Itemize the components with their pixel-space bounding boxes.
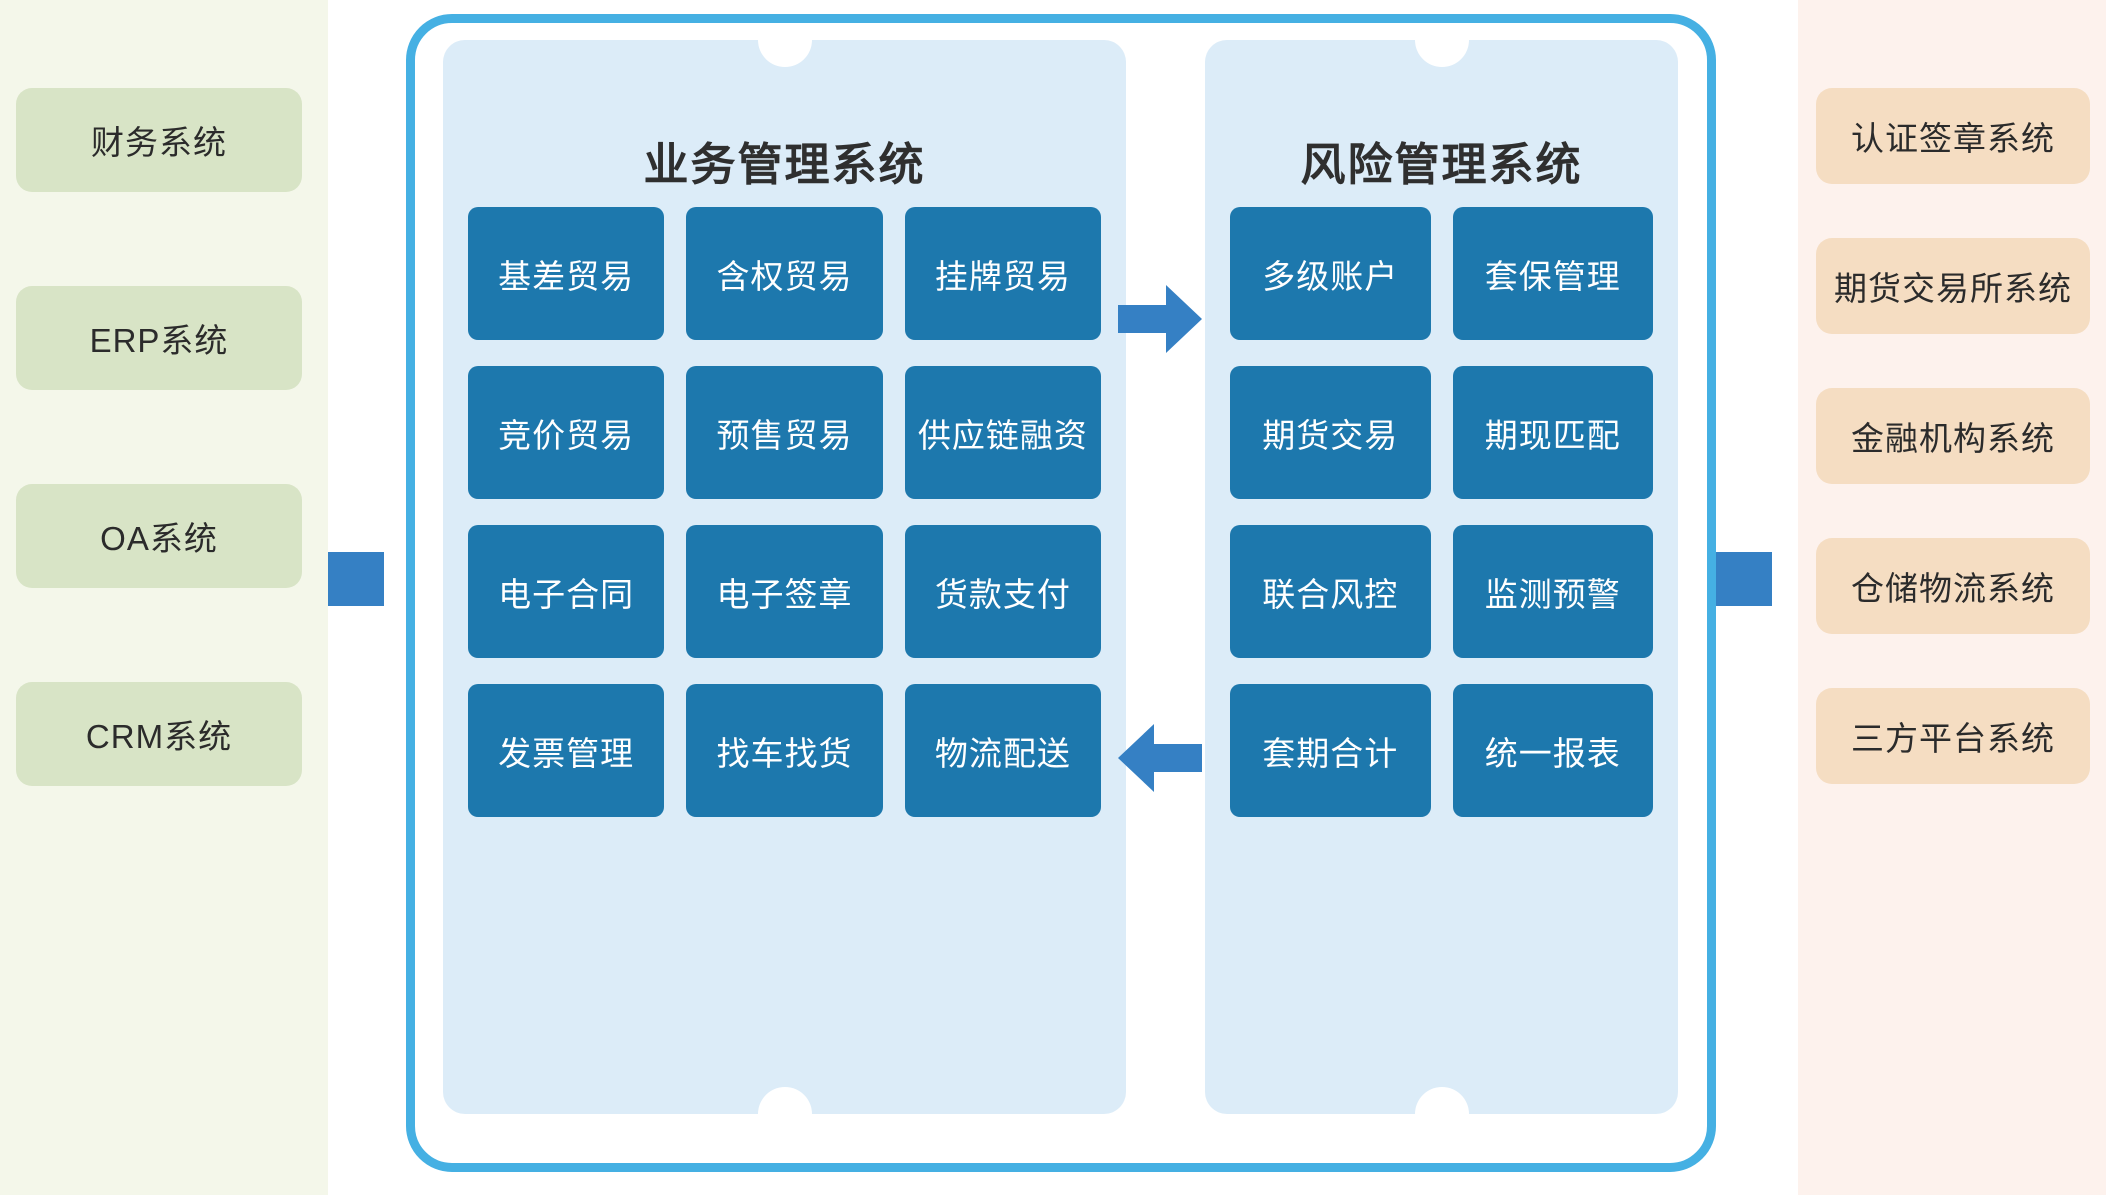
business-tile[interactable]: 电子签章	[686, 525, 882, 658]
right-system-label: 仓储物流系统	[1851, 562, 2055, 610]
risk-tile-grid: 多级账户 套保管理 期货交易 期现匹配 联合风控 监测预警 套期合计 统一报表	[1230, 207, 1653, 817]
risk-management-panel: 风险管理系统 多级账户 套保管理 期货交易 期现匹配 联合风控 监测预警 套期合…	[1205, 40, 1678, 1114]
risk-tile[interactable]: 期现匹配	[1453, 366, 1654, 499]
right-system-box-5[interactable]: 三方平台系统	[1816, 688, 2090, 784]
tile-label: 套保管理	[1485, 250, 1621, 298]
right-system-label: 期货交易所系统	[1834, 262, 2072, 310]
risk-tile[interactable]: 期货交易	[1230, 366, 1431, 499]
tile-label: 找车找货	[716, 727, 852, 775]
tile-label: 供应链融资	[918, 409, 1088, 457]
left-system-label: 财务系统	[91, 116, 227, 164]
tile-label: 含权贸易	[716, 250, 852, 298]
left-connector-block	[328, 552, 384, 606]
business-tile[interactable]: 预售贸易	[686, 366, 882, 499]
business-tile[interactable]: 发票管理	[468, 684, 664, 817]
right-connector-block	[1716, 552, 1772, 606]
panel-notch-top-icon	[758, 40, 812, 67]
tile-label: 套期合计	[1262, 727, 1398, 775]
risk-tile[interactable]: 联合风控	[1230, 525, 1431, 658]
tile-label: 监测预警	[1485, 568, 1621, 616]
tile-label: 挂牌贸易	[935, 250, 1071, 298]
risk-tile[interactable]: 统一报表	[1453, 684, 1654, 817]
left-system-box-3[interactable]: OA系统	[16, 484, 302, 588]
tile-label: 基差贸易	[498, 250, 634, 298]
tile-label: 期现匹配	[1485, 409, 1621, 457]
left-system-label: OA系统	[100, 512, 218, 560]
business-tile[interactable]: 基差贸易	[468, 207, 664, 340]
business-management-panel: 业务管理系统 基差贸易 含权贸易 挂牌贸易 竞价贸易 预售贸易 供应链融资 电子…	[443, 40, 1126, 1114]
tile-label: 预售贸易	[716, 409, 852, 457]
left-system-box-2[interactable]: ERP系统	[16, 286, 302, 390]
tile-label: 电子合同	[498, 568, 634, 616]
tile-label: 多级账户	[1262, 250, 1398, 298]
tile-label: 物流配送	[935, 727, 1071, 775]
tile-label: 竞价贸易	[498, 409, 634, 457]
business-tile-grid: 基差贸易 含权贸易 挂牌贸易 竞价贸易 预售贸易 供应链融资 电子合同 电子签章…	[468, 207, 1101, 817]
tile-label: 期货交易	[1262, 409, 1398, 457]
right-system-label: 认证签章系统	[1851, 112, 2055, 160]
right-system-box-2[interactable]: 期货交易所系统	[1816, 238, 2090, 334]
business-tile[interactable]: 物流配送	[905, 684, 1101, 817]
business-tile[interactable]: 含权贸易	[686, 207, 882, 340]
risk-tile[interactable]: 监测预警	[1453, 525, 1654, 658]
business-tile[interactable]: 找车找货	[686, 684, 882, 817]
right-system-label: 金融机构系统	[1851, 412, 2055, 460]
business-tile[interactable]: 竞价贸易	[468, 366, 664, 499]
risk-tile[interactable]: 套保管理	[1453, 207, 1654, 340]
business-tile[interactable]: 供应链融资	[905, 366, 1101, 499]
tile-label: 统一报表	[1485, 727, 1621, 775]
tile-label: 货款支付	[935, 568, 1071, 616]
panel-notch-top-icon	[1415, 40, 1469, 67]
left-system-box-4[interactable]: CRM系统	[16, 682, 302, 786]
tile-label: 联合风控	[1262, 568, 1398, 616]
right-system-box-4[interactable]: 仓储物流系统	[1816, 538, 2090, 634]
panel-notch-bottom-icon	[1415, 1087, 1469, 1114]
business-tile[interactable]: 货款支付	[905, 525, 1101, 658]
right-system-box-3[interactable]: 金融机构系统	[1816, 388, 2090, 484]
left-systems-panel: 财务系统 ERP系统 OA系统 CRM系统	[0, 0, 328, 1195]
risk-tile[interactable]: 套期合计	[1230, 684, 1431, 817]
right-system-label: 三方平台系统	[1851, 712, 2055, 760]
diagram-canvas: 财务系统 ERP系统 OA系统 CRM系统 认证签章系统 期货交易所系统 金融机…	[0, 0, 2106, 1195]
business-tile[interactable]: 挂牌贸易	[905, 207, 1101, 340]
tile-label: 电子签章	[716, 568, 852, 616]
business-tile[interactable]: 电子合同	[468, 525, 664, 658]
arrow-right-icon	[1118, 283, 1202, 355]
left-system-label: ERP系统	[90, 314, 229, 362]
risk-panel-title: 风险管理系统	[1205, 128, 1678, 193]
right-systems-panel: 认证签章系统 期货交易所系统 金融机构系统 仓储物流系统 三方平台系统	[1798, 0, 2106, 1195]
left-system-box-1[interactable]: 财务系统	[16, 88, 302, 192]
panel-notch-bottom-icon	[758, 1087, 812, 1114]
tile-label: 发票管理	[498, 727, 634, 775]
left-system-label: CRM系统	[86, 710, 232, 758]
right-system-box-1[interactable]: 认证签章系统	[1816, 88, 2090, 184]
business-panel-title: 业务管理系统	[443, 128, 1126, 193]
risk-tile[interactable]: 多级账户	[1230, 207, 1431, 340]
arrow-left-icon	[1118, 722, 1202, 794]
